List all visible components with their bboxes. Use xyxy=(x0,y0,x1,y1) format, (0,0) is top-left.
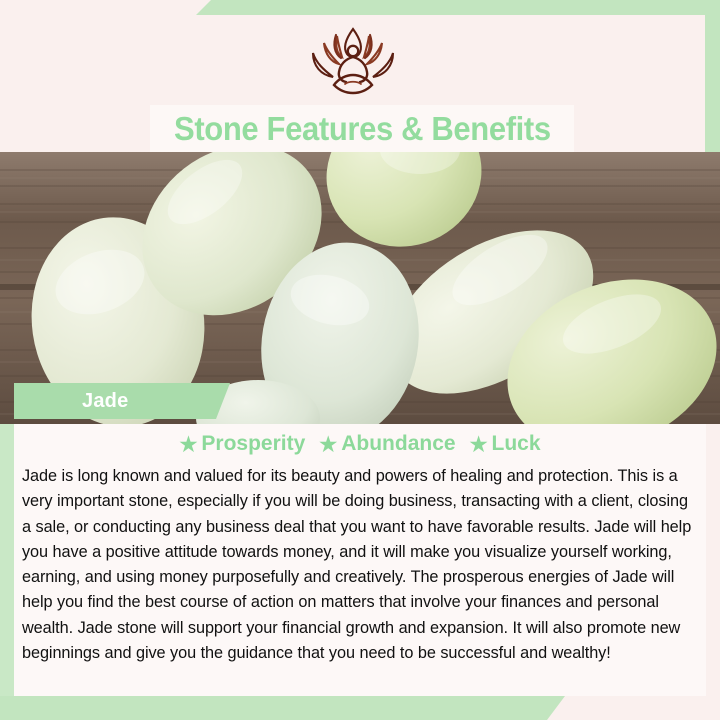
panel-left-accent xyxy=(0,424,14,700)
star-icon: ★ xyxy=(319,432,337,457)
infographic-page: BUDDHA STONES Stone Features & Benefits xyxy=(0,0,720,720)
keyword-label: Luck xyxy=(492,432,541,455)
keyword-label: Prosperity xyxy=(201,432,305,455)
star-icon: ★ xyxy=(179,432,197,457)
title-banner: Stone Features & Benefits xyxy=(150,105,574,152)
bottom-green-band xyxy=(0,696,565,720)
photo-caption-banner: Jade xyxy=(14,383,230,419)
keyword-prosperity: ★Prosperity xyxy=(179,432,305,457)
keyword-abundance: ★Abundance xyxy=(319,432,455,457)
star-icon: ★ xyxy=(470,432,488,457)
description-text: Jade is long known and valued for its be… xyxy=(22,464,698,666)
keyword-label: Abundance xyxy=(341,432,455,455)
lotus-meditation-icon xyxy=(0,23,705,101)
content-panel: ★Prosperity★Abundance★Luck Jade is long … xyxy=(14,424,706,696)
keyword-list: ★Prosperity★Abundance★Luck xyxy=(14,432,706,457)
keyword-luck: ★Luck xyxy=(470,432,541,457)
page-title: Stone Features & Benefits xyxy=(174,110,551,148)
brand-logo: BUDDHA STONES xyxy=(0,23,705,118)
photo-caption-label: Jade xyxy=(82,390,128,413)
top-green-band xyxy=(196,0,720,15)
